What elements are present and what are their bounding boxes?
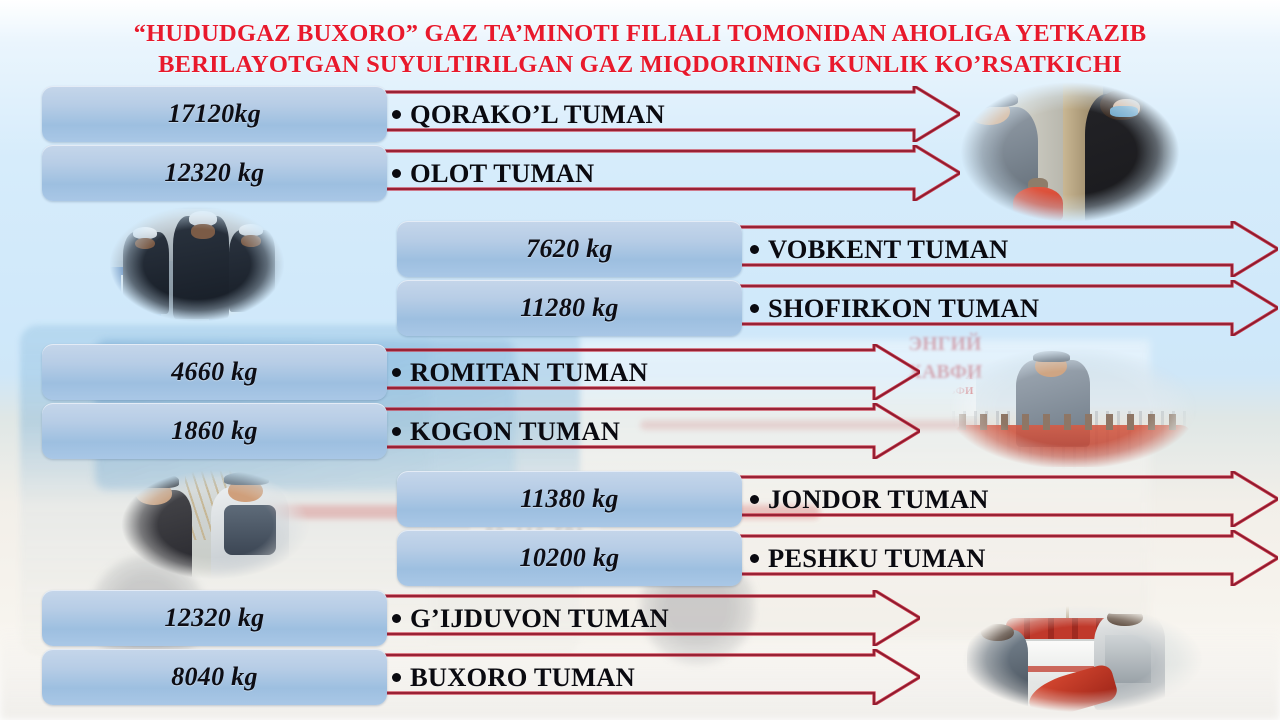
amount-chip[interactable]: 11280 kg <box>397 280 742 336</box>
district-label: G’IJDUVON TUMAN <box>392 590 669 646</box>
bullet-icon <box>392 673 401 682</box>
amount-chip[interactable]: 12320 kg <box>42 590 387 646</box>
amount-value: 12320 kg <box>165 158 265 188</box>
district-name: PESHKU TUMAN <box>768 543 986 574</box>
page-title: “HUDUDGAZ BUXORO” GAZ TA’MINOTI FILIALI … <box>50 18 1230 80</box>
bullet-icon <box>392 169 401 178</box>
amount-chip[interactable]: 8040 kg <box>42 649 387 705</box>
bullet-icon <box>392 427 401 436</box>
district-label: QORAKO’L TUMAN <box>392 86 665 142</box>
bullet-icon <box>392 110 401 119</box>
bullet-icon <box>392 614 401 623</box>
amount-chip[interactable]: 7620 kg <box>397 221 742 277</box>
district-name: BUXORO TUMAN <box>410 662 635 693</box>
district-name: OLOT TUMAN <box>410 158 594 189</box>
district-name: KOGON TUMAN <box>410 416 620 447</box>
amount-chip[interactable]: 4660 kg <box>42 344 387 400</box>
amount-chip[interactable]: 11380 kg <box>397 471 742 527</box>
amount-value: 1860 kg <box>171 416 258 446</box>
district-row: 7620 kgVOBKENT TUMAN <box>0 221 1280 277</box>
title-line-1: “HUDUDGAZ BUXORO” GAZ TA’MINOTI FILIALI … <box>50 18 1230 49</box>
district-row: 1860 kgKOGON TUMAN <box>0 403 1280 459</box>
district-name: ROMITAN TUMAN <box>410 357 648 388</box>
district-name: VOBKENT TUMAN <box>768 234 1008 265</box>
district-label: JONDOR TUMAN <box>750 471 989 527</box>
district-label: OLOT TUMAN <box>392 145 594 201</box>
amount-chip[interactable]: 10200 kg <box>397 530 742 586</box>
bullet-icon <box>750 495 759 504</box>
amount-value: 8040 kg <box>171 662 258 692</box>
district-row: 8040 kgBUXORO TUMAN <box>0 649 1280 705</box>
amount-value: 11280 kg <box>520 293 618 323</box>
district-row: 17120kgQORAKO’L TUMAN <box>0 86 1280 142</box>
amount-chip[interactable]: 17120kg <box>42 86 387 142</box>
district-label: VOBKENT TUMAN <box>750 221 1008 277</box>
district-row: 10200 kgPESHKU TUMAN <box>0 530 1280 586</box>
amount-value: 7620 kg <box>526 234 613 264</box>
district-row: 12320 kgG’IJDUVON TUMAN <box>0 590 1280 646</box>
bullet-icon <box>392 368 401 377</box>
district-label: SHOFIRKON TUMAN <box>750 280 1039 336</box>
district-label: KOGON TUMAN <box>392 403 620 459</box>
amount-chip[interactable]: 1860 kg <box>42 403 387 459</box>
district-row: 11280 kgSHOFIRKON TUMAN <box>0 280 1280 336</box>
infographic-slide: 80 116 EBA ЭНГИЙ ХАВФИ “HUDUDGAZ BUXORO”… <box>0 0 1280 720</box>
district-label: ROMITAN TUMAN <box>392 344 648 400</box>
district-label: BUXORO TUMAN <box>392 649 635 705</box>
district-row: 11380 kgJONDOR TUMAN <box>0 471 1280 527</box>
district-row: 12320 kgOLOT TUMAN <box>0 145 1280 201</box>
district-row: 4660 kgROMITAN TUMAN <box>0 344 1280 400</box>
bullet-icon <box>750 304 759 313</box>
district-label: PESHKU TUMAN <box>750 530 986 586</box>
district-name: QORAKO’L TUMAN <box>410 99 665 130</box>
amount-chip[interactable]: 12320 kg <box>42 145 387 201</box>
district-name: G’IJDUVON TUMAN <box>410 603 669 634</box>
amount-value: 17120kg <box>168 99 261 129</box>
district-name: SHOFIRKON TUMAN <box>768 293 1039 324</box>
amount-value: 11380 kg <box>520 484 618 514</box>
amount-value: 12320 kg <box>165 603 265 633</box>
bullet-icon <box>750 245 759 254</box>
amount-value: 4660 kg <box>171 357 258 387</box>
bullet-icon <box>750 554 759 563</box>
amount-value: 10200 kg <box>520 543 620 573</box>
district-name: JONDOR TUMAN <box>768 484 989 515</box>
